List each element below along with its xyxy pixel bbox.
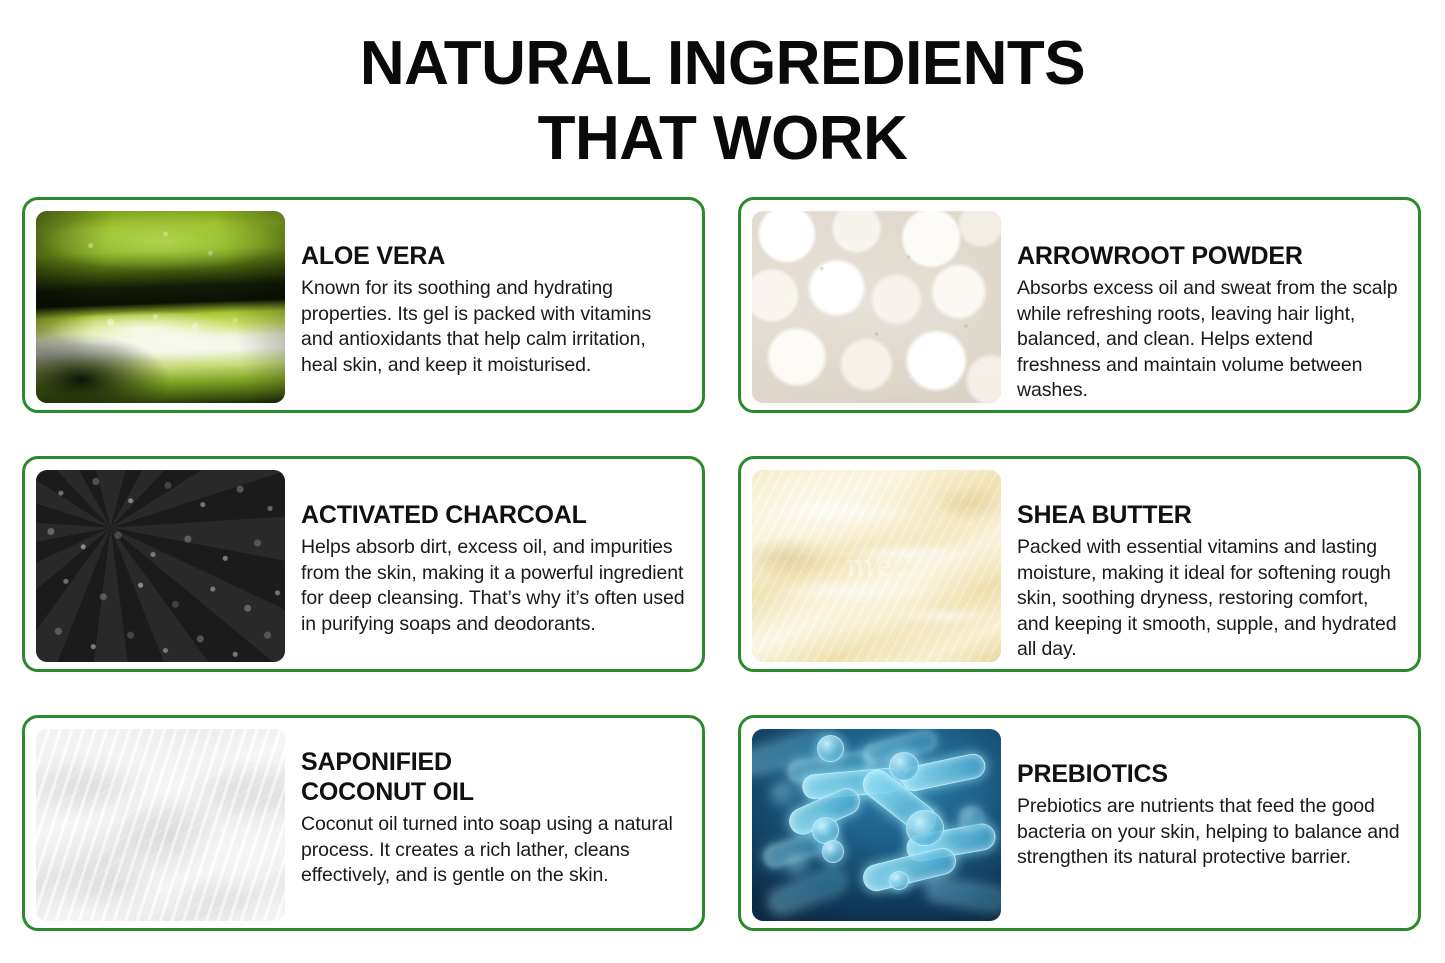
ingredient-card-aloe-vera[interactable]: ALOE VERA Known for its soothing and hyd… bbox=[22, 197, 705, 413]
arrowroot-powder-description: Absorbs excess oil and sweat from the sc… bbox=[1017, 276, 1401, 404]
arrowroot-powder-text: ARROWROOT POWDER Absorbs excess oil and … bbox=[1001, 211, 1407, 404]
saponified-coconut-oil-image bbox=[36, 729, 285, 921]
ingredient-card-saponified-coconut-oil[interactable]: SAPONIFIED COCONUT OIL Coconut oil turne… bbox=[22, 715, 705, 931]
page-title-line-2: THAT WORK bbox=[0, 101, 1445, 176]
ingredient-card-grid: ALOE VERA Known for its soothing and hyd… bbox=[22, 197, 1421, 930]
saponified-coconut-oil-description: Coconut oil turned into soap using a nat… bbox=[301, 812, 685, 889]
prebiotics-text: PREBIOTICS Prebiotics are nutrients that… bbox=[1001, 729, 1407, 871]
prebiotics-description: Prebiotics are nutrients that feed the g… bbox=[1017, 794, 1401, 871]
ingredient-card-arrowroot-powder[interactable]: ARROWROOT POWDER Absorbs excess oil and … bbox=[738, 197, 1421, 413]
activated-charcoal-description: Helps absorb dirt, excess oil, and impur… bbox=[301, 535, 685, 637]
arrowroot-powder-title: ARROWROOT POWDER bbox=[1017, 241, 1401, 271]
aloe-vera-image bbox=[36, 211, 285, 403]
ingredient-card-activated-charcoal[interactable]: ACTIVATED CHARCOAL Helps absorb dirt, ex… bbox=[22, 456, 705, 672]
activated-charcoal-image bbox=[36, 470, 285, 662]
shea-butter-title: SHEA BUTTER bbox=[1017, 500, 1401, 530]
ingredient-card-prebiotics[interactable]: PREBIOTICS Prebiotics are nutrients that… bbox=[738, 715, 1421, 931]
aloe-vera-description: Known for its soothing and hydrating pro… bbox=[301, 276, 685, 378]
aloe-vera-title: ALOE VERA bbox=[301, 241, 685, 271]
prebiotics-title: PREBIOTICS bbox=[1017, 759, 1401, 789]
page-title: NATURAL INGREDIENTS THAT WORK bbox=[0, 26, 1445, 176]
ingredients-poster: NATURAL INGREDIENTS THAT WORK ALOE VERA … bbox=[0, 0, 1445, 963]
shea-butter-description: Packed with essential vitamins and lasti… bbox=[1017, 535, 1401, 663]
ingredient-card-shea-butter[interactable]: me. SHEA BUTTER Packed with essential vi… bbox=[738, 456, 1421, 672]
shea-butter-text: SHEA BUTTER Packed with essential vitami… bbox=[1001, 470, 1407, 663]
activated-charcoal-text: ACTIVATED CHARCOAL Helps absorb dirt, ex… bbox=[285, 470, 691, 637]
saponified-coconut-oil-title: SAPONIFIED COCONUT OIL bbox=[301, 747, 685, 807]
aloe-vera-text: ALOE VERA Known for its soothing and hyd… bbox=[285, 211, 691, 378]
activated-charcoal-title: ACTIVATED CHARCOAL bbox=[301, 500, 685, 530]
prebiotics-image bbox=[752, 729, 1001, 921]
saponified-coconut-oil-text: SAPONIFIED COCONUT OIL Coconut oil turne… bbox=[285, 729, 691, 889]
page-title-line-1: NATURAL INGREDIENTS bbox=[0, 26, 1445, 101]
arrowroot-powder-image bbox=[752, 211, 1001, 403]
shea-butter-image: me. bbox=[752, 470, 1001, 662]
